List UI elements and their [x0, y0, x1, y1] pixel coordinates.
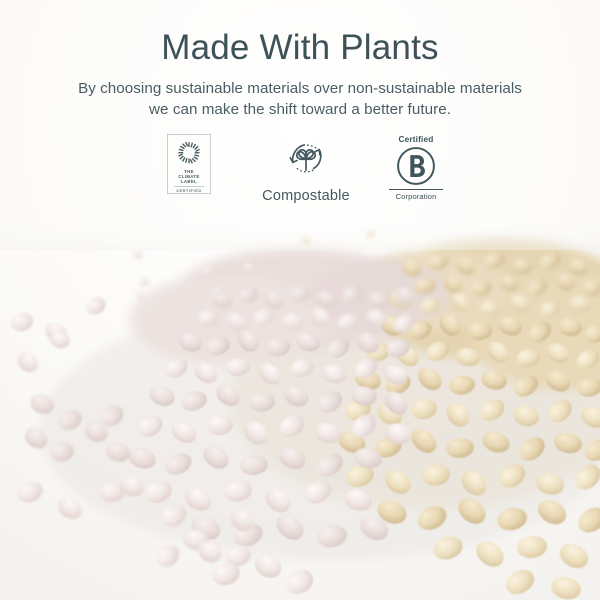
b-corp-certified-text: Certified: [385, 134, 447, 144]
page-title: Made With Plants: [0, 28, 600, 68]
headline-block: Made With Plants By choosing sustainable…: [0, 0, 600, 120]
sunburst-icon: [176, 140, 202, 166]
badge-climate-label: THE CLIMATE LABEL CERTIFIED: [167, 134, 211, 194]
b-corp-icon: [395, 145, 437, 187]
badge-b-corporation: Certified Corporation: [385, 134, 447, 201]
page-subtitle: By choosing sustainable materials over n…: [74, 78, 526, 120]
badge-compostable: Compostable: [252, 134, 360, 205]
climate-label-line-3: LABEL: [178, 179, 199, 184]
product-sustainability-banner: Made With Plants By choosing sustainable…: [0, 0, 600, 600]
climate-label-certified-text: CERTIFIED: [174, 186, 204, 193]
b-corp-divider: [389, 189, 443, 190]
climate-label-wordmark: THE CLIMATE LABEL: [178, 169, 199, 184]
certification-badges-row: THE CLIMATE LABEL CERTIFIED: [0, 134, 600, 210]
climate-label-card: THE CLIMATE LABEL CERTIFIED: [167, 134, 211, 194]
compostable-clover-arrows-icon: [278, 136, 334, 182]
b-corp-corporation-text: Corporation: [385, 192, 447, 201]
climate-label-line-2: CLIMATE: [178, 174, 199, 179]
compostable-label: Compostable: [252, 187, 360, 205]
